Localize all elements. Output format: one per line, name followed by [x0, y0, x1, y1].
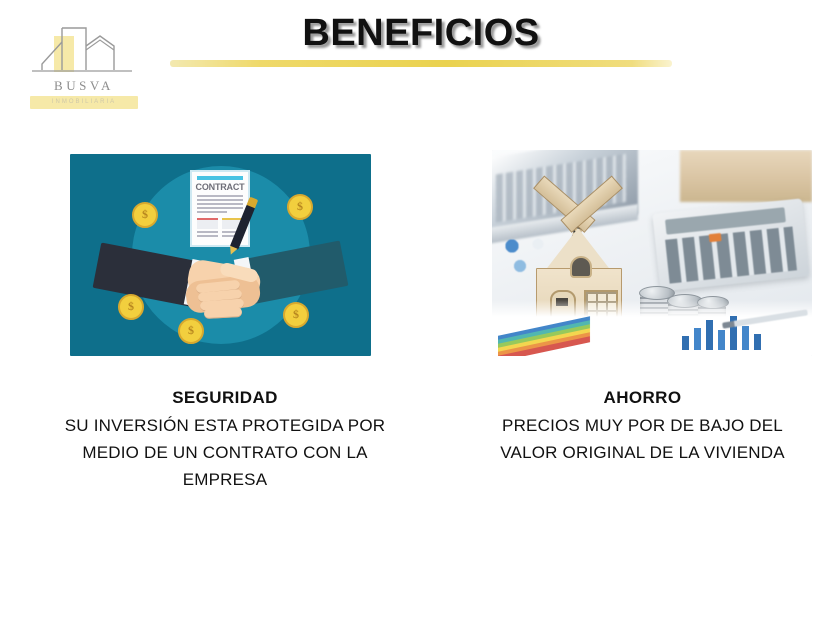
- calculator-icon: [652, 198, 809, 291]
- caption-ahorro: AHORRO PRECIOS MUY POR DE BAJO DEL VALOR…: [455, 388, 830, 466]
- calculator-key-accent: [709, 233, 722, 242]
- caption-body: PRECIOS MUY POR DE BAJO DEL VALOR ORIGIN…: [455, 412, 830, 466]
- contract-text-line: [197, 235, 218, 237]
- page-title: BENEFICIOS: [170, 12, 672, 55]
- calculator-keypad: [665, 226, 797, 283]
- caption-seguridad: SEGURIDAD SU INVERSIÓN ESTA PROTEGIDA PO…: [30, 388, 420, 493]
- contract-text-line: [197, 195, 243, 197]
- contract-topbar: [197, 176, 243, 180]
- caption-heading: AHORRO: [455, 388, 830, 408]
- wooden-desk-strip: [680, 150, 812, 202]
- financial-chart-paper: [492, 300, 812, 356]
- company-logo[interactable]: BUSVA INMOBILIARIA: [26, 22, 142, 108]
- logo-subtitle: INMOBILIARIA: [30, 97, 138, 108]
- dollar-coin-icon: $: [287, 194, 313, 220]
- caption-body: SU INVERSIÓN ESTA PROTEGIDA POR MEDIO DE…: [30, 412, 420, 493]
- handshake-contract-illustration: CONTRACT: [70, 154, 371, 356]
- contract-text-line: [197, 207, 243, 209]
- contract-field-box: [197, 218, 218, 229]
- bar-chart-bar: [742, 326, 749, 350]
- benefit-card-seguridad: CONTRACT: [70, 154, 371, 356]
- dollar-coin-icon: $: [118, 294, 144, 320]
- bar-chart-bar: [694, 328, 701, 350]
- building-outline-icon: [26, 22, 142, 82]
- benefit-card-ahorro: [492, 150, 812, 356]
- caption-heading: SEGURIDAD: [30, 388, 420, 408]
- bar-chart-bar: [682, 336, 689, 350]
- bar-chart-bar: [718, 330, 725, 350]
- area-chart-graphic: [498, 316, 590, 356]
- contract-text-line: [197, 203, 243, 205]
- contract-label: CONTRACT: [192, 182, 248, 192]
- bar-chart-bar: [706, 320, 713, 350]
- finger: [204, 307, 242, 319]
- dollar-coin-icon: $: [283, 302, 309, 328]
- bar-chart-bar: [754, 334, 761, 350]
- slide-canvas: BUSVA INMOBILIARIA BENEFICIOS CONTRACT: [0, 0, 840, 630]
- house-coins-calculator-photo: [492, 150, 812, 356]
- dollar-coin-icon: $: [132, 202, 158, 228]
- title-underline-rule: [170, 60, 672, 67]
- contract-text-line: [197, 211, 227, 213]
- contract-text-line: [197, 231, 218, 233]
- round-window: [570, 256, 592, 278]
- logo-wordmark: BUSVA: [26, 78, 142, 94]
- dollar-coin-icon: $: [178, 318, 204, 344]
- contract-text-line: [197, 199, 243, 201]
